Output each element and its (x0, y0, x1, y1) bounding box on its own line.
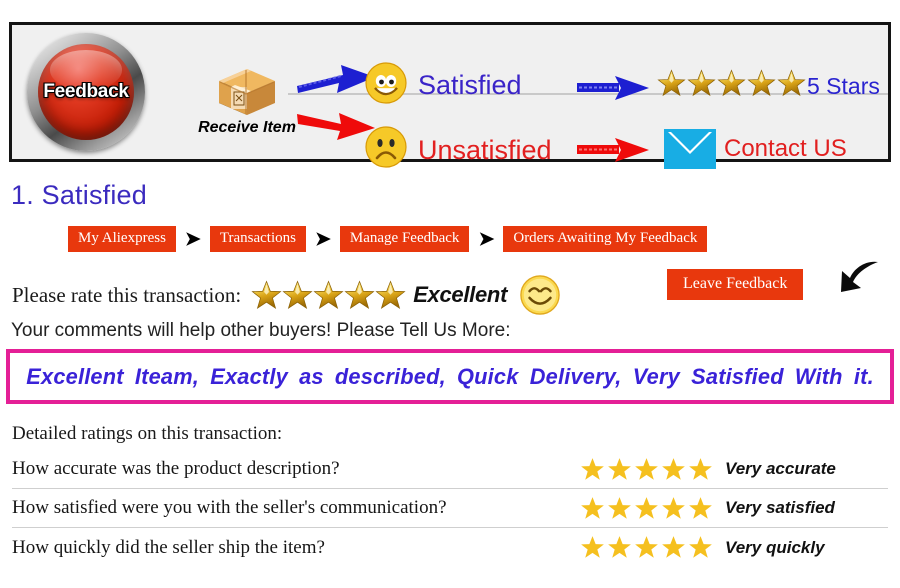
detailed-ratings-table: How accurate was the product description… (12, 450, 888, 567)
feedback-button-face: Feedback (38, 44, 134, 140)
detailed-rating-question: How satisfied were you with the seller's… (12, 497, 580, 519)
star-icon (634, 457, 659, 482)
star-icon (688, 457, 713, 482)
banner-star-rating (657, 69, 806, 98)
star-icon (607, 535, 632, 560)
banner-satisfied-label: Satisfied (418, 70, 522, 101)
detailed-rating-row: How quickly did the seller ship the item… (12, 528, 888, 567)
feedback-button[interactable]: Feedback (27, 33, 145, 151)
star-icon (661, 457, 686, 482)
envelope-icon[interactable] (664, 129, 716, 169)
header-banner: Feedback Receive Item (9, 22, 891, 162)
star-3d-icon (657, 69, 686, 98)
section-title: 1. Satisfied (11, 180, 147, 211)
star-icon (580, 496, 605, 521)
rate-transaction-stars[interactable] (251, 280, 406, 311)
star-3d-icon (777, 69, 806, 98)
detailed-rating-stars[interactable] (580, 496, 713, 521)
detailed-rating-stars[interactable] (580, 457, 713, 482)
detailed-rating-question: How accurate was the product description… (12, 458, 580, 480)
comment-textarea[interactable]: Excellent Iteam, Exactly as described, Q… (6, 349, 894, 404)
receive-item-block: Receive Item (182, 65, 312, 137)
package-box-icon (215, 65, 279, 117)
star-3d-icon (687, 69, 716, 98)
star-icon (661, 535, 686, 560)
star-3d-icon (747, 69, 776, 98)
comment-prompt: Your comments will help other buyers! Pl… (11, 320, 511, 342)
star-icon (661, 496, 686, 521)
star-icon (688, 496, 713, 521)
detailed-rating-question: How quickly did the seller ship the item… (12, 537, 580, 559)
breadcrumb-item-2[interactable]: Transactions (210, 226, 306, 252)
detailed-rating-answer: Very satisfied (725, 498, 835, 518)
feedback-button-label: Feedback (43, 81, 128, 103)
detailed-ratings-title: Detailed ratings on this transaction: (12, 423, 282, 445)
breadcrumb-separator-icon: ➤ (176, 230, 210, 249)
breadcrumb: My Aliexpress➤Transactions➤Manage Feedba… (68, 226, 707, 252)
detailed-rating-row: How satisfied were you with the seller's… (12, 489, 888, 528)
rating-word-label: Excellent (413, 282, 507, 308)
star-3d-icon (313, 280, 344, 311)
star-icon (634, 496, 659, 521)
breadcrumb-separator-icon: ➤ (306, 230, 340, 249)
banner-five-stars-label: 5 Stars (807, 73, 880, 100)
star-icon (607, 496, 632, 521)
star-icon (580, 535, 605, 560)
star-icon (607, 457, 632, 482)
smiley-grin-icon (519, 274, 561, 316)
arrow-right-red-2-icon (577, 137, 649, 163)
comment-text: Excellent Iteam, Exactly as described, Q… (26, 364, 874, 390)
banner-contact-us-label: Contact US (724, 135, 847, 163)
smiley-sad-icon (364, 125, 408, 169)
star-3d-icon (375, 280, 406, 311)
feedback-instruction-page: Feedback Receive Item (0, 0, 900, 588)
detailed-rating-answer: Very accurate (725, 459, 836, 479)
pointer-arrow-icon (836, 258, 880, 302)
star-icon (634, 535, 659, 560)
leave-feedback-button[interactable]: Leave Feedback (667, 269, 803, 300)
banner-unsatisfied-label: Unsatisfied (418, 135, 552, 166)
smiley-happy-icon (364, 61, 408, 105)
star-icon (580, 457, 605, 482)
rate-transaction-label: Please rate this transaction: (12, 283, 241, 308)
breadcrumb-item-3[interactable]: Manage Feedback (340, 226, 470, 252)
detailed-rating-row: How accurate was the product description… (12, 450, 888, 489)
detailed-rating-stars[interactable] (580, 535, 713, 560)
breadcrumb-item-1[interactable]: My Aliexpress (68, 226, 176, 252)
star-3d-icon (717, 69, 746, 98)
star-3d-icon (282, 280, 313, 311)
detailed-rating-answer: Very quickly (725, 538, 825, 558)
breadcrumb-separator-icon: ➤ (469, 230, 503, 249)
breadcrumb-item-4[interactable]: Orders Awaiting My Feedback (503, 226, 707, 252)
star-3d-icon (251, 280, 282, 311)
star-icon (688, 535, 713, 560)
star-3d-icon (344, 280, 375, 311)
receive-item-label: Receive Item (182, 119, 312, 137)
arrow-right-blue-2-icon (577, 75, 649, 101)
rate-transaction-row: Please rate this transaction: Excellent (12, 274, 561, 316)
